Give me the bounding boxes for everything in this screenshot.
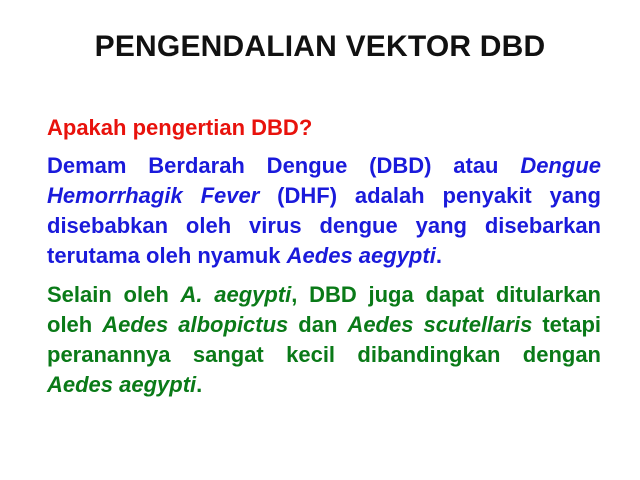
italic-term: Aedes scutellaris — [347, 312, 532, 337]
text-run: Demam Berdarah Dengue (DBD) atau — [47, 153, 520, 178]
vector-species-paragraph: Selain oleh A. aegypti, DBD juga dapat d… — [47, 280, 601, 400]
text-run: . — [196, 372, 202, 397]
italic-term: Aedes aegypti — [287, 243, 436, 268]
text-run: Selain oleh — [47, 282, 181, 307]
question-heading: Apakah pengertian DBD? — [47, 113, 601, 143]
italic-term: A. aegypti — [181, 282, 292, 307]
italic-term: Aedes albopictus — [102, 312, 288, 337]
text-run: . — [436, 243, 442, 268]
slide-title: PENGENDALIAN VEKTOR DBD — [0, 28, 640, 66]
italic-term: Aedes aegypti — [47, 372, 196, 397]
text-run: dan — [288, 312, 347, 337]
definition-paragraph: Demam Berdarah Dengue (DBD) atau Dengue … — [47, 151, 601, 271]
slide-body: Apakah pengertian DBD? Demam Berdarah De… — [47, 113, 601, 400]
presentation-slide: PENGENDALIAN VEKTOR DBD Apakah pengertia… — [0, 0, 640, 480]
